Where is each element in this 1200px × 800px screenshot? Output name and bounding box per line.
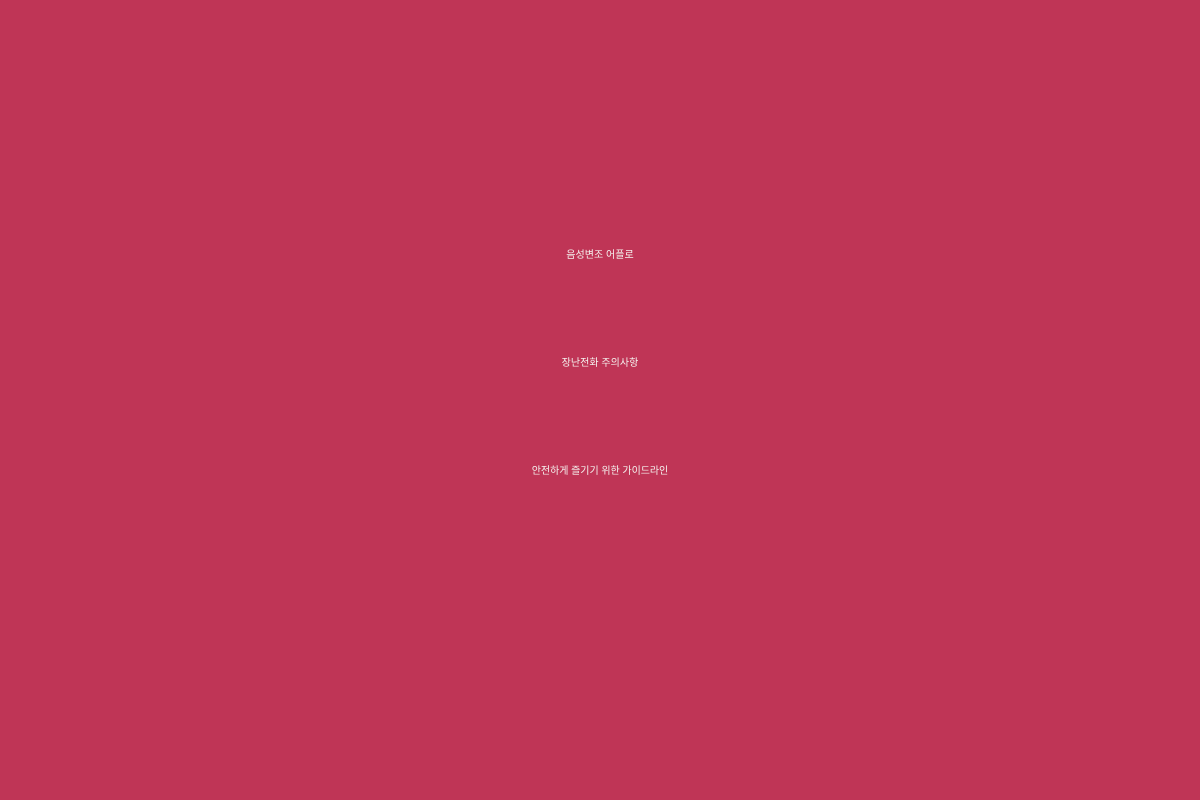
headline-line-3: 안전하게 즐기기 위한 가이드라인 (8, 418, 1192, 526)
headline-line-2: 장난전화 주의사항 (8, 310, 1192, 418)
headline-line-1: 음성변조 어플로 (8, 202, 1192, 310)
headline-block: 음성변조 어플로 장난전화 주의사항 안전하게 즐기기 위한 가이드라인 (0, 202, 1200, 526)
title-card: 음성변조 어플로 장난전화 주의사항 안전하게 즐기기 위한 가이드라인 (0, 0, 1200, 800)
